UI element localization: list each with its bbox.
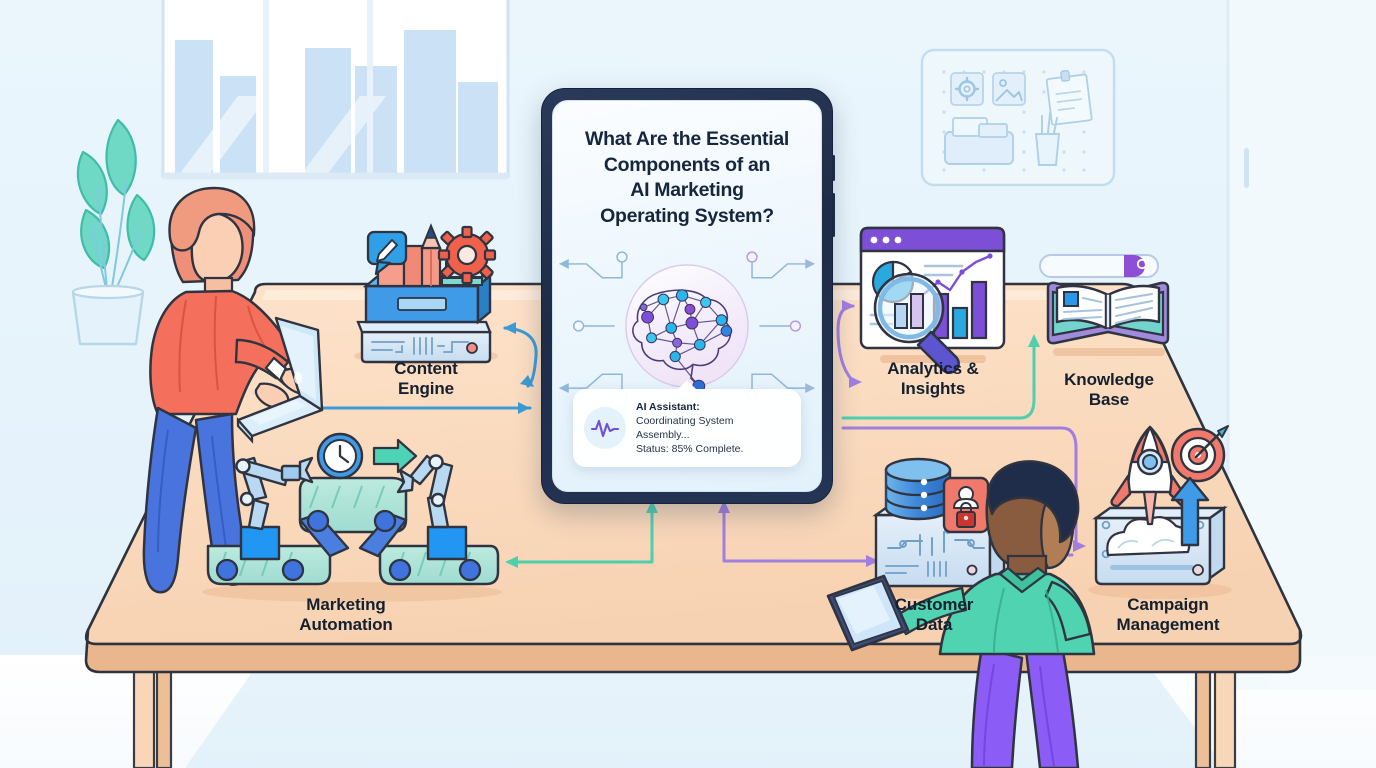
privacy-badge-icon — [944, 478, 988, 532]
main-tablet[interactable]: What Are the Essential Components of an … — [541, 88, 833, 504]
tray-icon — [945, 118, 1013, 164]
page-title: What Are the Essential Components of an … — [565, 127, 809, 230]
label-marketing-automation: Marketing Automation — [272, 595, 420, 635]
database-icon — [886, 459, 950, 519]
label-analytics-insights: Analytics & Insights — [862, 359, 1004, 399]
waveform-pulse-icon — [584, 407, 626, 449]
clock-icon — [318, 434, 362, 478]
ai-assistant-status-card: AI Assistant: Coordinating System Assemb… — [573, 389, 801, 467]
label-customer-data: Customer Data — [872, 595, 996, 635]
window — [163, 0, 508, 176]
tablet-button-volume[interactable] — [832, 193, 835, 237]
customer-data-icon — [867, 459, 1004, 599]
label-campaign-management: Campaign Management — [1090, 595, 1246, 635]
assistant-status: Status: 85% Complete. — [636, 442, 789, 456]
label-content-engine: Content Engine — [356, 359, 496, 399]
tablet-button-power[interactable] — [832, 155, 835, 181]
search-bar-icon — [1040, 255, 1158, 277]
wallboard — [922, 50, 1114, 185]
content-engine-icon — [354, 226, 498, 365]
label-knowledge-base: Knowledge Base — [1038, 370, 1180, 410]
assistant-activity: Coordinating System Assembly... — [636, 414, 789, 442]
gear-icon-content — [439, 227, 495, 283]
tablet-screen: What Are the Essential Components of an … — [552, 100, 822, 492]
image-icon — [993, 73, 1025, 105]
assistant-name: AI Assistant: — [636, 400, 789, 414]
gear-icon — [951, 73, 983, 105]
